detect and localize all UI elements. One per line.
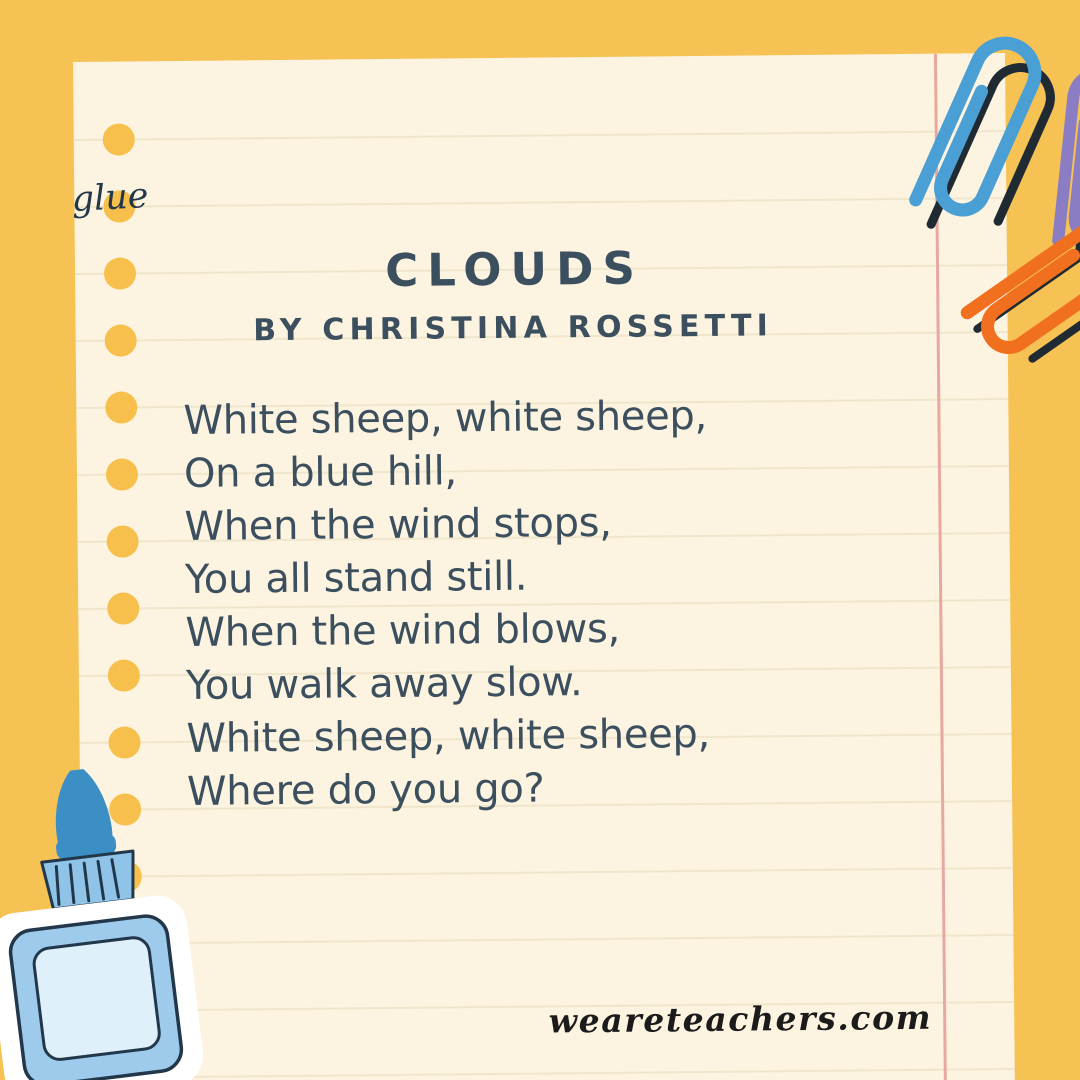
punch-hole: [105, 391, 137, 423]
glue-label-text: glue: [47, 175, 173, 221]
poem-line: Where do you go?: [187, 761, 711, 819]
punch-hole: [106, 525, 138, 557]
punch-hole: [106, 458, 138, 490]
glue-bottle-icon: [0, 749, 231, 1080]
poem-line: White sheep, white sheep,: [183, 390, 707, 448]
poster-canvas: CLOUDS BY CHRISTINA ROSSETTI White sheep…: [0, 0, 1080, 1080]
poem-body: White sheep, white sheep, On a blue hill…: [183, 390, 711, 819]
punch-hole: [107, 592, 139, 624]
poem-line: You walk away slow.: [186, 655, 710, 713]
punch-hole: [108, 659, 140, 691]
punch-hole: [103, 123, 135, 155]
poem-line: You all stand still.: [185, 549, 709, 607]
notebook-paper: CLOUDS BY CHRISTINA ROSSETTI White sheep…: [73, 53, 1015, 1080]
poem-line: On a blue hill,: [184, 443, 708, 501]
poem-line: When the wind stops,: [184, 496, 708, 554]
poem-line: White sheep, white sheep,: [186, 708, 710, 766]
watermark-text: weareteachers.com: [482, 998, 932, 1041]
page-title: CLOUDS: [75, 239, 945, 300]
punch-hole: [108, 726, 140, 758]
orange-paperclip-icon: [938, 188, 1080, 368]
poem-line: When the wind blows,: [185, 602, 709, 660]
